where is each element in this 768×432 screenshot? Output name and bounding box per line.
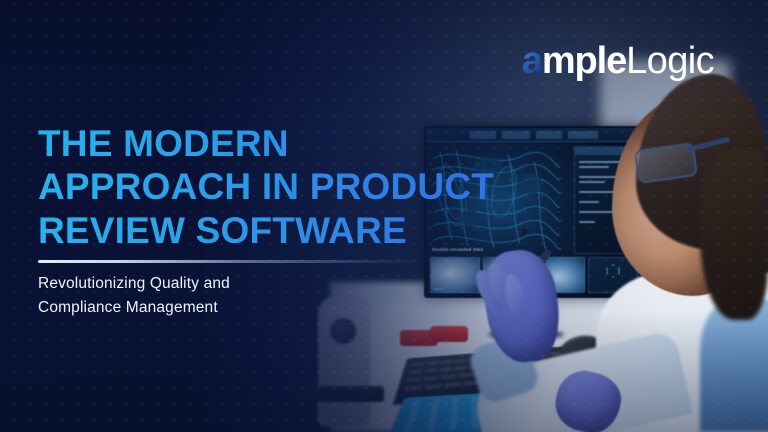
banner-content: ampleLogic THE MODERN APPROACH IN PRODUC… (0, 0, 768, 432)
subtitle-line-2: Compliance Management (38, 296, 230, 320)
amplelogic-logo[interactable]: ampleLogic (522, 42, 714, 80)
logo-word-mple: mple (542, 42, 626, 80)
hero-banner: Double-stranded DNA Resolution 2.1A Chai… (0, 0, 768, 432)
logo-word-logic: Logic (626, 42, 714, 80)
page-title: THE MODERN APPROACH IN PRODUCT REVIEW SO… (38, 122, 558, 252)
logo-letter-a: a (522, 42, 542, 80)
subtitle-line-1: Revolutionizing Quality and (38, 272, 230, 296)
headline-line-1: THE MODERN (38, 122, 558, 165)
headline-divider (38, 260, 428, 263)
headline-line-2: APPROACH IN PRODUCT (38, 165, 558, 208)
headline-line-3: REVIEW SOFTWARE (38, 209, 558, 252)
subtitle: Revolutionizing Quality and Compliance M… (38, 272, 230, 319)
